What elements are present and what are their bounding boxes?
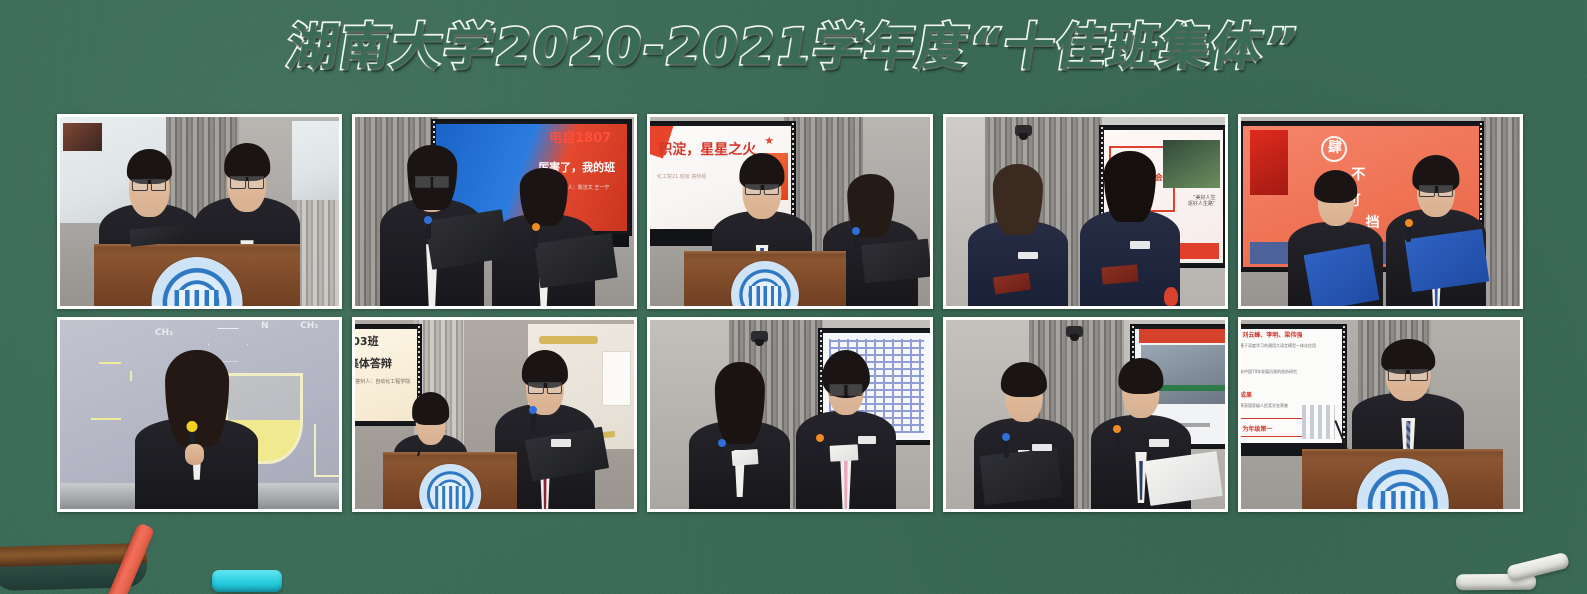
hair (1104, 151, 1156, 222)
handheld-microphone (1406, 224, 1411, 242)
lectern (94, 244, 301, 306)
presentation-folder (980, 448, 1063, 505)
slide-formula-n: N (261, 322, 269, 331)
slide-title: 电自1807 (549, 132, 611, 146)
photo-3-scene: 积淀，星星之火 化工院21 班级 答辩组 (650, 117, 929, 306)
red-certificate-booklet (1101, 264, 1139, 284)
photo-7-scene: 03班 集体答辩 答辩人：自动化工程学院 (355, 320, 634, 509)
name-badge (1018, 252, 1038, 259)
page-title: 湖南大学2020-2021学年度“十佳班集体” (284, 22, 1303, 72)
name-badge (551, 439, 571, 447)
gallery-photo-7[interactable]: 03班 集体答辩 答辩人：自动化工程学院 (352, 317, 637, 512)
gallery-photo-10[interactable]: 刘云峰、李明、梁伟强 基于深度学习的通用大语言模型一体化应用 新中国70年发展历… (1238, 317, 1523, 512)
hair (165, 350, 229, 448)
presentation-folder (861, 238, 930, 283)
chalk-cyan[interactable] (212, 570, 282, 592)
gallery-photo-8[interactable] (647, 317, 932, 512)
slide-line-2: 新中国70年发展历程的剖析研究 (1241, 370, 1297, 374)
university-seal (151, 257, 242, 306)
name-badge (1130, 241, 1150, 249)
blue-folder (1405, 229, 1490, 292)
hair (993, 164, 1043, 235)
hair (715, 362, 765, 445)
university-seal (1357, 458, 1449, 509)
slide-title: 03班 (355, 336, 378, 348)
lectern-top-edge (383, 452, 517, 456)
ceiling-camera-icon (751, 331, 768, 342)
speaker-left (689, 362, 790, 509)
ceiling-camera-icon (1066, 326, 1083, 337)
gallery-photo-1[interactable] (57, 114, 342, 309)
lectern (684, 251, 846, 306)
slide-line-3: 荣获国家级人民奖学金荣誉 (1241, 404, 1288, 408)
photo-1-scene (60, 117, 339, 306)
slide-dash-1 (99, 362, 121, 364)
blackboard-canvas: 湖南大学2020-2021学年度“十佳班集体” (0, 0, 1587, 594)
page-title-container: 湖南大学2020-2021学年度“十佳班集体” (0, 22, 1587, 72)
photo-6-scene: CH₃ N CH₃ (60, 320, 339, 509)
photo-9-scene (946, 320, 1225, 509)
speaker-right (796, 350, 897, 509)
gallery-photo-2[interactable]: 电自1807 厉害了，我的班 演讲人：陈洁文 王一宁 (352, 114, 637, 309)
slide-byline: 答辩人：自动化工程学院 (355, 380, 410, 385)
speaker-right (1080, 151, 1181, 306)
speaker-center (135, 346, 258, 509)
name-badge (858, 436, 876, 444)
slide-caption: “美好人生逐好人生路” (1188, 196, 1216, 207)
gallery-photo-3[interactable]: 积淀，星星之火 化工院21 班级 答辩组 (647, 114, 932, 309)
gallery-photo-5[interactable]: 肆 不 可 挡 “十佳班集体” (1238, 114, 1523, 309)
slide-background: 刘云峰、李明、梁伟强 基于深度学习的通用大语言模型一体化应用 新中国70年发展历… (1241, 329, 1342, 444)
photo-4-scene: 大会 “美好人生逐好人生路” (946, 117, 1225, 306)
cue-card (829, 445, 858, 462)
lectern-top-edge (684, 251, 846, 255)
eyeglasses (528, 382, 562, 393)
slide-highlight-text: 为年级第一 (1242, 427, 1272, 433)
name-badge (1149, 439, 1169, 447)
slide-star-icon (765, 136, 774, 145)
university-seal (731, 261, 799, 306)
slide-dash-3 (130, 371, 132, 381)
gallery-photo-4[interactable]: 大会 “美好人生逐好人生路” (943, 114, 1228, 309)
handheld-microphone (720, 444, 725, 466)
hair (1001, 362, 1047, 397)
eyeglasses (1388, 369, 1428, 380)
slide-bar-chart (1302, 405, 1335, 439)
eyeglasses (1419, 185, 1453, 196)
ceiling-camera-icon (1015, 125, 1032, 136)
handheld-microphone (1004, 438, 1009, 458)
lectern (383, 452, 517, 509)
slide-formula-ch3-left: CH₃ (155, 329, 173, 338)
slide-formula-ch3-right: CH₃ (300, 322, 318, 331)
name-badge (1032, 444, 1052, 451)
chalk-white-2[interactable] (1506, 552, 1570, 583)
slide-char-1: 肆 (1328, 141, 1342, 156)
lectern-top-edge (94, 244, 301, 248)
slide-header-bar (1139, 329, 1225, 343)
blue-folder (1303, 244, 1379, 306)
handheld-microphone (1115, 430, 1120, 452)
eyeglasses (829, 384, 862, 395)
gallery-photo-6[interactable]: CH₃ N CH₃ (57, 317, 342, 512)
hair (1118, 358, 1163, 394)
handheld-microphone (818, 439, 823, 461)
eyeglasses (745, 184, 779, 195)
photo-10-scene: 刘云峰、李明、梁伟强 基于深度学习的通用大语言模型一体化应用 新中国70年发展历… (1241, 320, 1520, 509)
eyeglasses (132, 179, 166, 190)
photo-5-scene: 肆 不 可 挡 “十佳班集体” (1241, 117, 1520, 306)
decorative-tassel (1164, 287, 1178, 306)
handheld-microphone (426, 221, 431, 239)
slide-subtitle: 集体答辩 (355, 358, 392, 370)
slide-byline: 化工院21 班级 答辩组 (657, 175, 707, 180)
handheld-microphone (854, 232, 859, 250)
photo-2-scene: 电自1807 厉害了，我的班 演讲人：陈洁文 王一宁 (355, 117, 634, 306)
hand (185, 444, 205, 465)
cue-card (731, 449, 758, 466)
gallery-photo-9[interactable] (943, 317, 1228, 512)
photo-8-scene (650, 320, 929, 509)
slide-line-1: 基于深度学习的通用大语言模型一体化应用 (1241, 344, 1316, 348)
screen-dot-strip (1343, 326, 1347, 447)
slide-thumbnail (63, 123, 102, 151)
slide-beaker-icon (314, 424, 339, 477)
lectern (1302, 449, 1503, 509)
slide-heading: 刘云峰、李明、梁伟强 (1242, 333, 1302, 339)
handheld-microphone (531, 411, 536, 433)
slide-dash-2 (91, 418, 122, 420)
hair (1314, 170, 1358, 203)
speaker-left (968, 164, 1069, 306)
eyeglasses (230, 176, 264, 188)
slide-side-panel (1250, 130, 1288, 195)
hair (519, 168, 568, 227)
hair (412, 392, 450, 425)
wall-slats-right (297, 200, 339, 306)
lectern-top-edge (1302, 449, 1503, 453)
presentation-screen: 刘云峰、李明、梁伟强 基于深度学习的通用大语言模型一体化应用 新中国70年发展历… (1241, 324, 1347, 449)
slide-section-label: 成果 (1241, 393, 1252, 399)
university-seal (419, 464, 481, 509)
eyeglasses (415, 176, 449, 187)
photo-gallery-grid: 电自1807 厉害了，我的班 演讲人：陈洁文 王一宁 (57, 114, 1523, 512)
handheld-microphone (533, 228, 538, 248)
